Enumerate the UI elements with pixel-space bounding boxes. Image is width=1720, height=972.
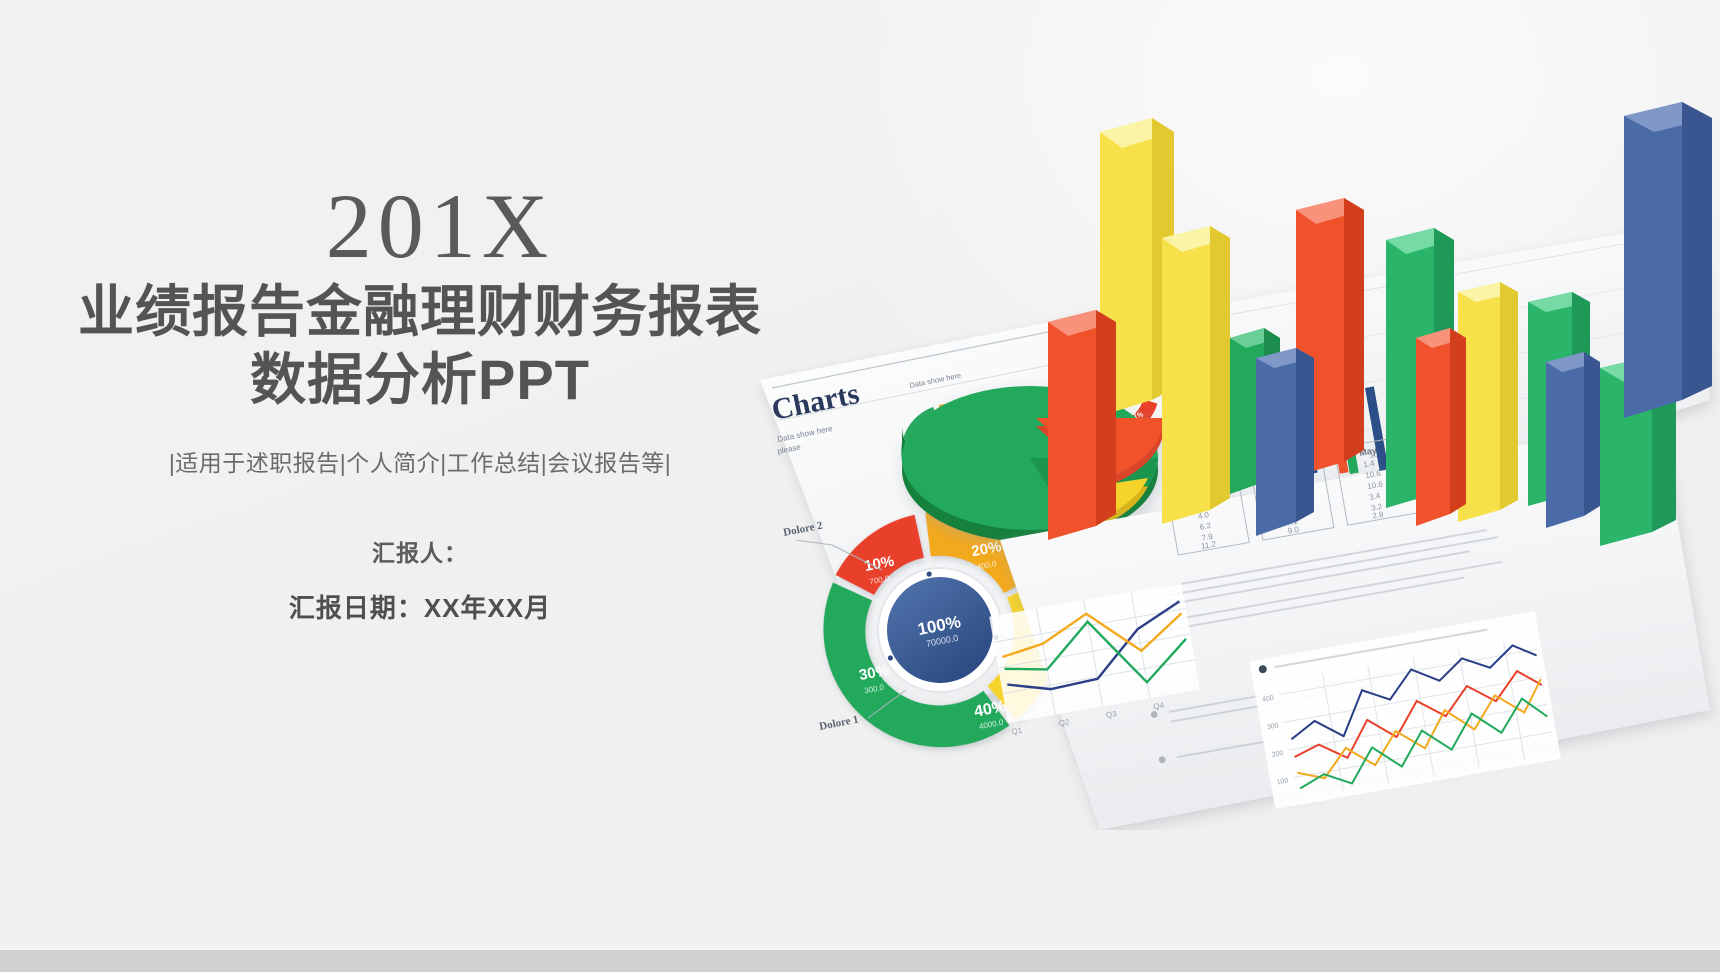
title-line-2: 数据分析PPT <box>40 346 800 414</box>
bar-3d-yellow-2 <box>1162 226 1230 524</box>
title-text-block: 201X 业绩报告金融理财财务报表 数据分析PPT |适用于述职报告|个人简介|… <box>40 180 800 625</box>
q-axis-q3: Q3 <box>1105 709 1118 720</box>
presenter-label: 汇报人： <box>40 534 800 568</box>
big-donut-leader-1: Dolore 2 <box>782 519 824 538</box>
year-heading: 201X <box>40 180 800 274</box>
subtitle-usage-list: |适用于述职报告|个人简介|工作总结|会议报告等| <box>40 444 800 478</box>
business-charts-illustration: 20 40 60 80 100 120 140 <box>700 70 1720 830</box>
bottom-frame-bar <box>0 946 1720 972</box>
big-donut-leader-3: Dolore 1 <box>818 714 859 733</box>
bar-3d-red-1 <box>1048 310 1116 540</box>
title-line-1: 业绩报告金融理财财务报表 <box>78 280 762 343</box>
report-date-label: 汇报日期：XX年XX月 <box>40 588 800 625</box>
bar-3d-blue-1 <box>1256 348 1314 536</box>
q-axis-q4: Q4 <box>1153 701 1166 712</box>
bar-3d-red-3 <box>1416 328 1466 526</box>
bar-3d-blue-rising <box>1624 102 1712 418</box>
presentation-slide: 201X 业绩报告金融理财财务报表 数据分析PPT |适用于述职报告|个人简介|… <box>0 0 1720 972</box>
q-axis-q1: Q1 <box>1011 726 1024 737</box>
bar-3d-yellow-3 <box>1458 282 1518 522</box>
bar-3d-blue-2 <box>1546 352 1600 528</box>
q-axis-q2: Q2 <box>1058 717 1071 728</box>
page-title: 业绩报告金融理财财务报表 数据分析PPT <box>40 278 800 415</box>
